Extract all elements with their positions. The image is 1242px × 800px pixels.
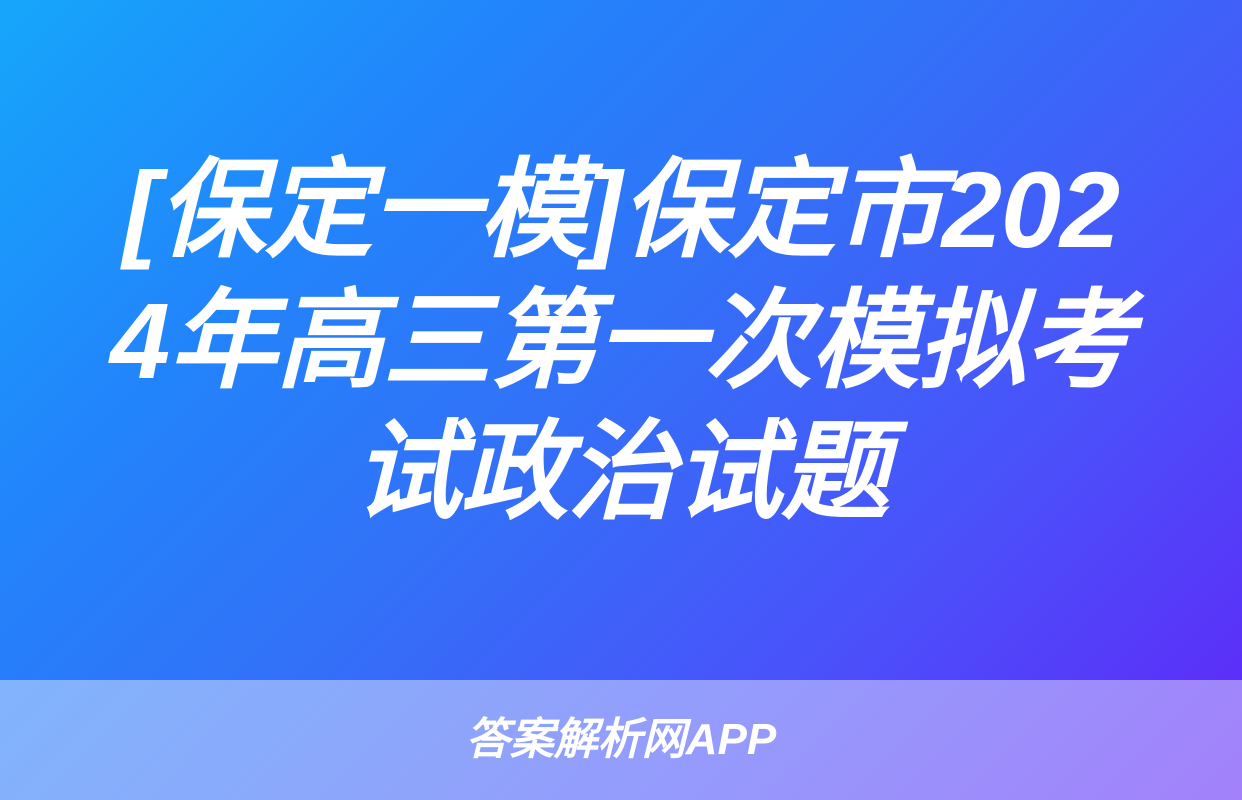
watermark-label: 答案解析网APP <box>466 718 776 762</box>
watermark-band: 答案解析网APP <box>0 680 1242 800</box>
exam-title-card: [保定一模]保定市2024年高三第一次模拟考试政治试题 答案解析网APP <box>0 0 1242 800</box>
title-area: [保定一模]保定市2024年高三第一次模拟考试政治试题 <box>0 0 1242 680</box>
page-title: [保定一模]保定市2024年高三第一次模拟考试政治试题 <box>96 144 1146 537</box>
